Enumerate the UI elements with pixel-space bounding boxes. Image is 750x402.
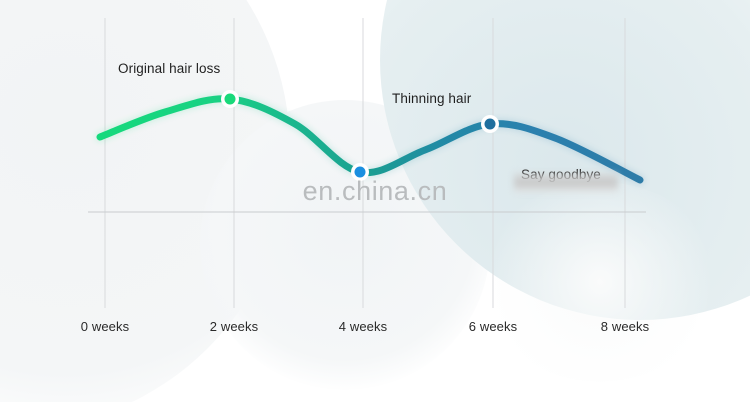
annotation-say-goodbye: Say goodbye [521, 167, 601, 182]
data-point-4-weeks[interactable] [355, 167, 366, 178]
x-tick-label-8-weeks: 8 weeks [601, 319, 649, 334]
annotation-original-hair-loss: Original hair loss [118, 61, 220, 76]
line-chart-graphic [0, 0, 750, 402]
chart-tick-marks [105, 297, 625, 308]
annotation-thinning-hair: Thinning hair [392, 91, 471, 106]
x-tick-label-4-weeks: 4 weeks [339, 319, 387, 334]
x-tick-label-6-weeks: 6 weeks [469, 319, 517, 334]
data-point-2-weeks[interactable] [225, 94, 236, 105]
x-tick-label-2-weeks: 2 weeks [210, 319, 258, 334]
data-point-6-weeks[interactable] [485, 119, 496, 130]
x-tick-label-0-weeks: 0 weeks [81, 319, 129, 334]
chart-canvas: Original hair loss Thinning hair Say goo… [0, 0, 750, 402]
